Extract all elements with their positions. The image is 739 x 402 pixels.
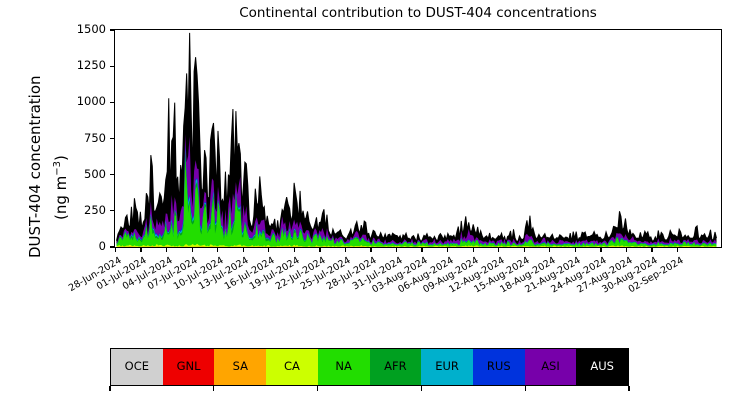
colorbar-tick — [317, 386, 318, 391]
colorbar-tick — [109, 386, 110, 391]
colorbar-tick — [213, 386, 214, 391]
colorbar-tick — [421, 386, 422, 391]
chart-figure: Continental contribution to DUST-404 con… — [0, 0, 739, 402]
colorbar-tick — [628, 386, 629, 391]
colorbar-tick — [525, 386, 526, 391]
colorbar-tick-marks — [0, 0, 739, 402]
